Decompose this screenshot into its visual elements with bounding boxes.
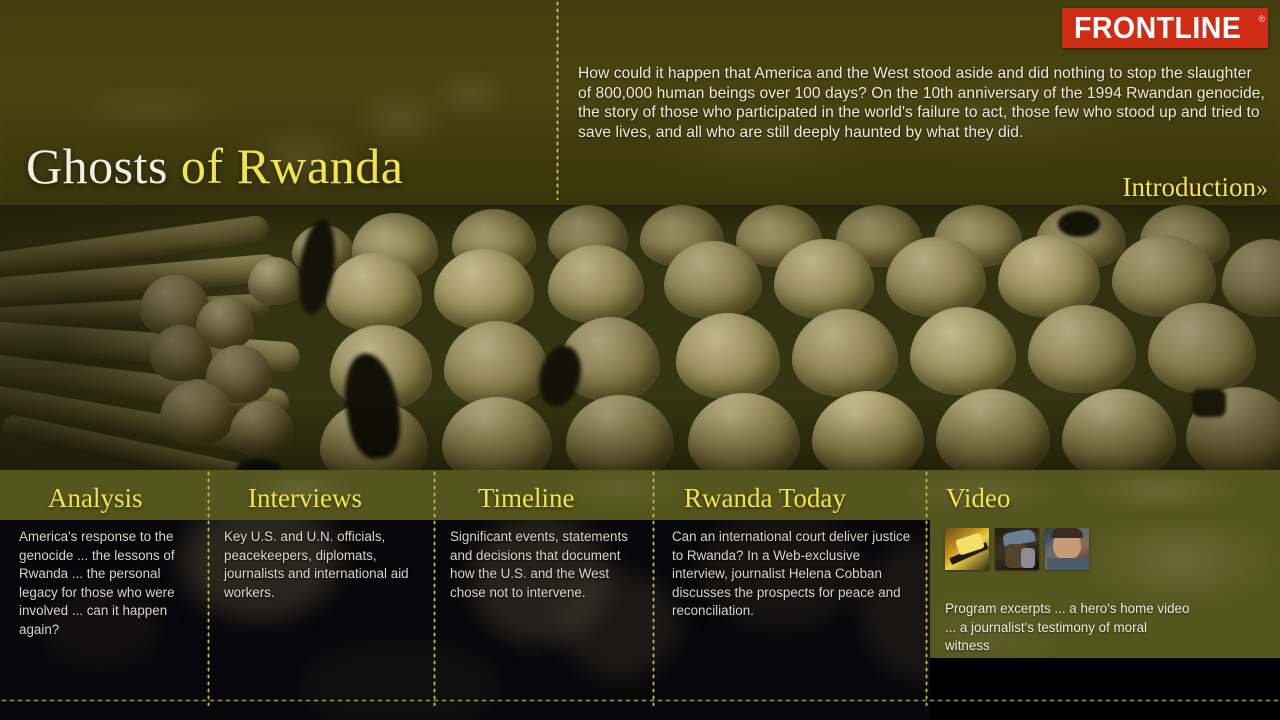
description-interviews: Key U.S. and U.N. officials, peacekeeper… [224, 528, 416, 602]
nav-label-rwanda-today: Rwanda Today [684, 483, 846, 514]
video-thumbnail-soldier[interactable] [995, 528, 1039, 570]
nav-item-video[interactable]: Video [928, 470, 1280, 520]
bottom-dotted-rule [0, 699, 1280, 702]
introduction-link[interactable]: Introduction» [1123, 172, 1268, 203]
video-thumbnail-portrait[interactable] [1045, 528, 1089, 570]
photo-edge-shadow [0, 205, 1280, 470]
divider-interviews-timeline [433, 470, 436, 706]
divider-timeline-rwanda [652, 470, 655, 706]
nav-label-video: Video [946, 483, 1010, 514]
nav-label-interviews: Interviews [248, 483, 362, 514]
description-video: Program excerpts ... a hero's home video… [945, 600, 1195, 656]
nav-item-timeline[interactable]: Timeline [436, 470, 652, 520]
nav-item-interviews[interactable]: Interviews [211, 470, 433, 520]
section-nav-bar: Analysis Interviews Timeline Rwanda Toda… [0, 470, 1280, 520]
page-title-part2: of Rwanda [181, 138, 404, 194]
frontline-logo[interactable]: FRONTLINE ® [1062, 8, 1268, 48]
nav-item-rwanda-today[interactable]: Rwanda Today [655, 470, 925, 520]
divider-analysis-interviews [207, 470, 210, 706]
nav-label-timeline: Timeline [478, 483, 575, 514]
hero-banner: Ghosts of Rwanda How could it happen tha… [0, 0, 1280, 205]
description-timeline: Significant events, statements and decis… [450, 528, 632, 602]
registered-trademark-icon: ® [1258, 14, 1265, 24]
page-title: Ghosts of Rwanda [26, 141, 403, 191]
nav-label-analysis: Analysis [48, 483, 143, 514]
page-title-part1: Ghosts [26, 138, 181, 194]
description-rwanda-today: Can an international court deliver justi… [672, 528, 912, 621]
video-thumbnail-list [945, 528, 1089, 570]
frontline-logo-text: FRONTLINE [1074, 12, 1241, 43]
page-root: Ghosts of Rwanda How could it happen tha… [0, 0, 1280, 720]
chevron-right-icon: » [1256, 176, 1268, 202]
description-analysis: America's response to the genocide ... t… [19, 528, 197, 640]
hero-vertical-dotted-divider [556, 0, 559, 200]
nav-item-analysis[interactable]: Analysis [0, 470, 208, 520]
intro-paragraph: How could it happen that America and the… [578, 64, 1268, 142]
introduction-link-label: Introduction [1123, 172, 1256, 202]
divider-rwanda-video [925, 470, 928, 706]
video-thumbnail-machete[interactable] [945, 528, 989, 570]
hero-photo-skulls [0, 205, 1280, 470]
